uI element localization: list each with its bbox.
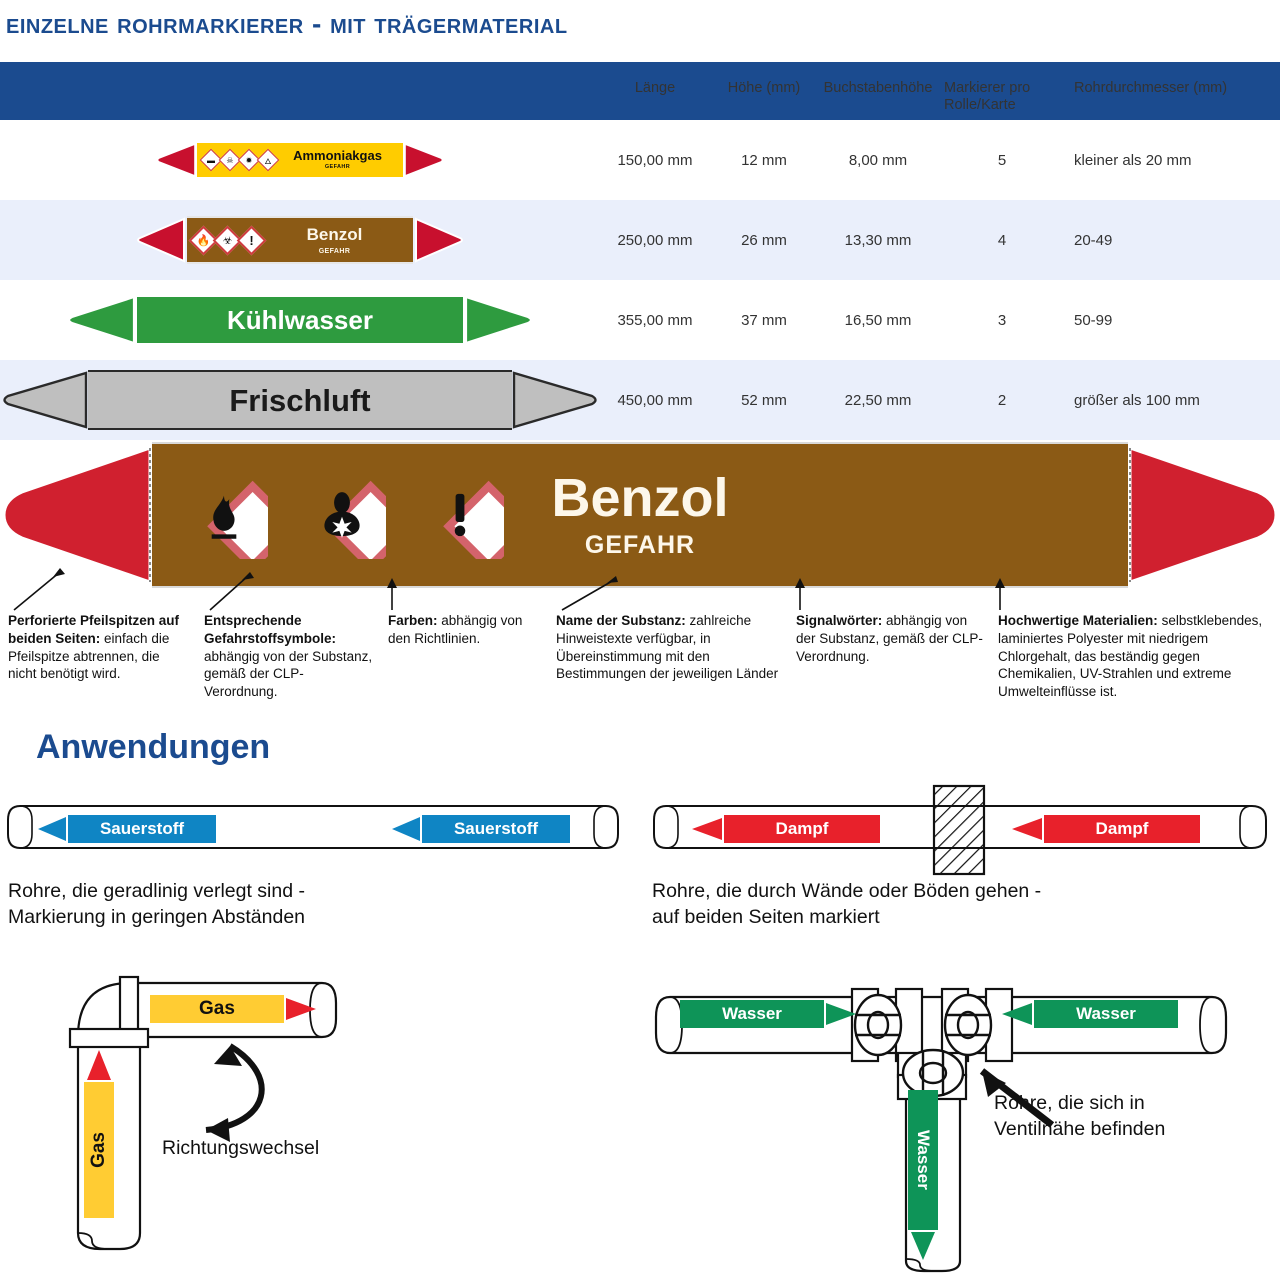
column-header-hoehe: Höhe (mm) xyxy=(710,62,818,97)
pipe-band-gas-vertical: Gas xyxy=(84,1048,114,1218)
ghs-pictogram-group: ▬ ☠ ✹ 🜂 xyxy=(197,152,276,168)
table-row: Kühlwasser 355,00 mm 37 mm 16,50 mm 3 50… xyxy=(0,280,1280,360)
callout-item: Name der Substanz: zahlreiche Hinweistex… xyxy=(556,612,782,683)
marker-signal-word: GEFAHR xyxy=(262,248,407,255)
cell-rohrdurchmesser: 50-99 xyxy=(1066,312,1266,329)
pipe-band-dampf: Dampf xyxy=(690,815,880,843)
cell-buchstabenhoehe: 8,00 mm xyxy=(818,152,938,169)
ghs-pictogram-group: 🔥 ☣ ! xyxy=(187,230,262,251)
callout-item: Signalwörter: abhängig von der Substanz,… xyxy=(796,612,986,665)
column-header-rohrdurchmesser: Rohrdurchmesser (mm) xyxy=(1066,62,1266,97)
table-row: ▬ ☠ ✹ 🜂 Ammoniakgas GEFAHR 150,00 mm 12 … xyxy=(0,120,1280,200)
callout-item: Farben: abhängig von den Richtlinien. xyxy=(388,612,540,648)
cell-buchstabenhoehe: 22,50 mm xyxy=(818,392,938,409)
table-header-row: Länge Höhe (mm) Buchstabenhöhe Markierer… xyxy=(0,62,1280,120)
arrow-tip-right-icon xyxy=(413,216,465,264)
marker-preview-ammoniakgas: ▬ ☠ ✹ 🜂 Ammoniakgas GEFAHR xyxy=(0,120,600,200)
pipe-band-label: Dampf xyxy=(776,819,829,839)
arrow-tip-left-icon xyxy=(155,142,197,178)
marker-name: Ammoniakgas xyxy=(276,149,399,162)
marker-preview-benzol: 🔥 ☣ ! Benzol GEFAHR xyxy=(0,200,600,280)
pipe-band-label: Wasser xyxy=(913,1130,933,1190)
cell-markierer: 2 xyxy=(938,392,1066,409)
pipe-band-wasser-vertical: Wasser xyxy=(908,1090,938,1262)
callout-item: Entsprechende Gefahrstoffsymbole: abhäng… xyxy=(204,612,376,701)
pipe-band-sauerstoff: Sauerstoff xyxy=(390,815,570,843)
cell-hoehe: 37 mm xyxy=(710,312,818,329)
application-caption-valve: Rohre, die sich in Ventilnähe befinden xyxy=(994,1090,1274,1143)
application-caption-straight: Rohre, die geradlinig verlegt sind - Mar… xyxy=(8,878,528,931)
marker-signal-word: GEFAHR xyxy=(152,531,1128,560)
marker-signal-word: GEFAHR xyxy=(276,165,399,171)
featured-marker-text: Benzol GEFAHR xyxy=(152,471,1128,560)
cell-rohrdurchmesser: 20-49 xyxy=(1066,232,1266,249)
arrow-right-icon xyxy=(284,995,318,1023)
pipe-band-wasser-right: Wasser xyxy=(1000,1000,1178,1028)
cell-rohrdurchmesser: kleiner als 20 mm xyxy=(1066,152,1266,169)
caption-line: Richtungswechsel xyxy=(162,1135,319,1161)
cell-buchstabenhoehe: 13,30 mm xyxy=(818,232,938,249)
caption-line: Rohre, die geradlinig verlegt sind - xyxy=(8,878,528,904)
arrow-left-icon xyxy=(36,815,68,843)
pipe-band-label: Dampf xyxy=(1096,819,1149,839)
marker-name: Kühlwasser xyxy=(137,307,463,333)
cell-laenge: 355,00 mm xyxy=(600,312,710,329)
pipe-band-sauerstoff: Sauerstoff xyxy=(36,815,216,843)
caption-line: Ventilnähe befinden xyxy=(994,1116,1274,1142)
application-caption-direction-change: Richtungswechsel xyxy=(162,1135,319,1161)
cell-buchstabenhoehe: 16,50 mm xyxy=(818,312,938,329)
cell-rohrdurchmesser: größer als 100 mm xyxy=(1066,392,1266,409)
pipe-band-gas-horizontal: Gas xyxy=(150,995,318,1023)
arrow-right-icon xyxy=(824,1000,858,1028)
direction-change-arrow-icon xyxy=(130,1020,300,1150)
callout-item: Perforierte Pfeilspitzen auf beiden Seit… xyxy=(8,612,188,683)
marker-name: Benzol xyxy=(262,226,407,243)
caption-line: Rohre, die sich in xyxy=(994,1090,1274,1116)
callout-title: Signalwörter: xyxy=(796,613,882,628)
arrow-left-icon xyxy=(690,815,724,843)
callout-body: abhängig von der Substanz, gemäß der CLP… xyxy=(204,649,372,700)
callout-list: Perforierte Pfeilspitzen auf beiden Seit… xyxy=(0,600,1280,720)
arrow-down-icon xyxy=(908,1230,938,1262)
column-header-preview xyxy=(0,62,600,120)
column-header-buchstabenhoehe: Buchstabenhöhe xyxy=(818,62,938,97)
caption-line: Rohre, die durch Wände oder Böden gehen … xyxy=(652,878,1212,904)
cell-markierer: 3 xyxy=(938,312,1066,329)
column-header-markierer-pro-rolle: Markierer pro Rolle/Karte xyxy=(938,62,1066,114)
cell-hoehe: 52 mm xyxy=(710,392,818,409)
arrow-tip-right-icon xyxy=(512,370,600,430)
table-row: Frischluft 450,00 mm 52 mm 22,50 mm 2 gr… xyxy=(0,360,1280,440)
pipe-band-dampf: Dampf xyxy=(1010,815,1200,843)
pipe-band-label: Gas xyxy=(88,1132,110,1168)
marker-preview-frischluft: Frischluft xyxy=(0,360,600,440)
cell-markierer: 5 xyxy=(938,152,1066,169)
wall-hatch-icon xyxy=(930,784,990,876)
arrow-tip-left-icon xyxy=(0,370,88,430)
marker-name: Benzol xyxy=(152,471,1128,525)
arrow-left-icon xyxy=(1000,1000,1034,1028)
callout-title: Farben: xyxy=(388,613,438,628)
caption-line: Markierung in geringen Abständen xyxy=(8,904,528,930)
specification-table: Länge Höhe (mm) Buchstabenhöhe Markierer… xyxy=(0,62,1280,440)
arrow-tip-left-icon xyxy=(65,294,137,346)
callout-item: Hochwertige Materialien: selbstklebendes… xyxy=(998,612,1274,701)
caption-line: auf beiden Seiten markiert xyxy=(652,904,1212,930)
callout-title: Entsprechende Gefahrstoffsymbole: xyxy=(204,613,336,646)
column-header-laenge: Länge xyxy=(600,62,710,97)
marker-preview-kuehlwasser: Kühlwasser xyxy=(0,280,600,360)
application-caption-wall: Rohre, die durch Wände oder Böden gehen … xyxy=(652,878,1212,931)
arrow-tip-right-icon xyxy=(403,142,445,178)
cell-laenge: 250,00 mm xyxy=(600,232,710,249)
cell-laenge: 150,00 mm xyxy=(600,152,710,169)
arrow-up-icon xyxy=(84,1048,114,1082)
marker-name: Frischluft xyxy=(88,385,512,416)
pipe-band-label: Sauerstoff xyxy=(100,819,184,839)
table-row: 🔥 ☣ ! Benzol GEFAHR 250,00 mm 26 mm 13,3… xyxy=(0,200,1280,280)
cell-markierer: 4 xyxy=(938,232,1066,249)
callout-title: Hochwertige Materialien: xyxy=(998,613,1158,628)
pipe-band-label: Sauerstoff xyxy=(454,819,538,839)
arrow-tip-right-icon xyxy=(463,294,535,346)
page-title: Einzelne Rohrmarkierer - mit Trägermater… xyxy=(6,8,568,40)
pipe-band-label: Wasser xyxy=(722,1004,782,1024)
pipe-band-wasser-left: Wasser xyxy=(680,1000,858,1028)
cell-laenge: 450,00 mm xyxy=(600,392,710,409)
cell-hoehe: 26 mm xyxy=(710,232,818,249)
pipe-band-label: Gas xyxy=(199,998,235,1020)
callout-title: Name der Substanz: xyxy=(556,613,686,628)
applications-heading: Anwendungen xyxy=(36,728,270,767)
arrow-left-icon xyxy=(390,815,422,843)
cell-hoehe: 12 mm xyxy=(710,152,818,169)
arrow-left-icon xyxy=(1010,815,1044,843)
arrow-tip-left-icon xyxy=(135,216,187,264)
pipe-band-label: Wasser xyxy=(1076,1004,1136,1024)
